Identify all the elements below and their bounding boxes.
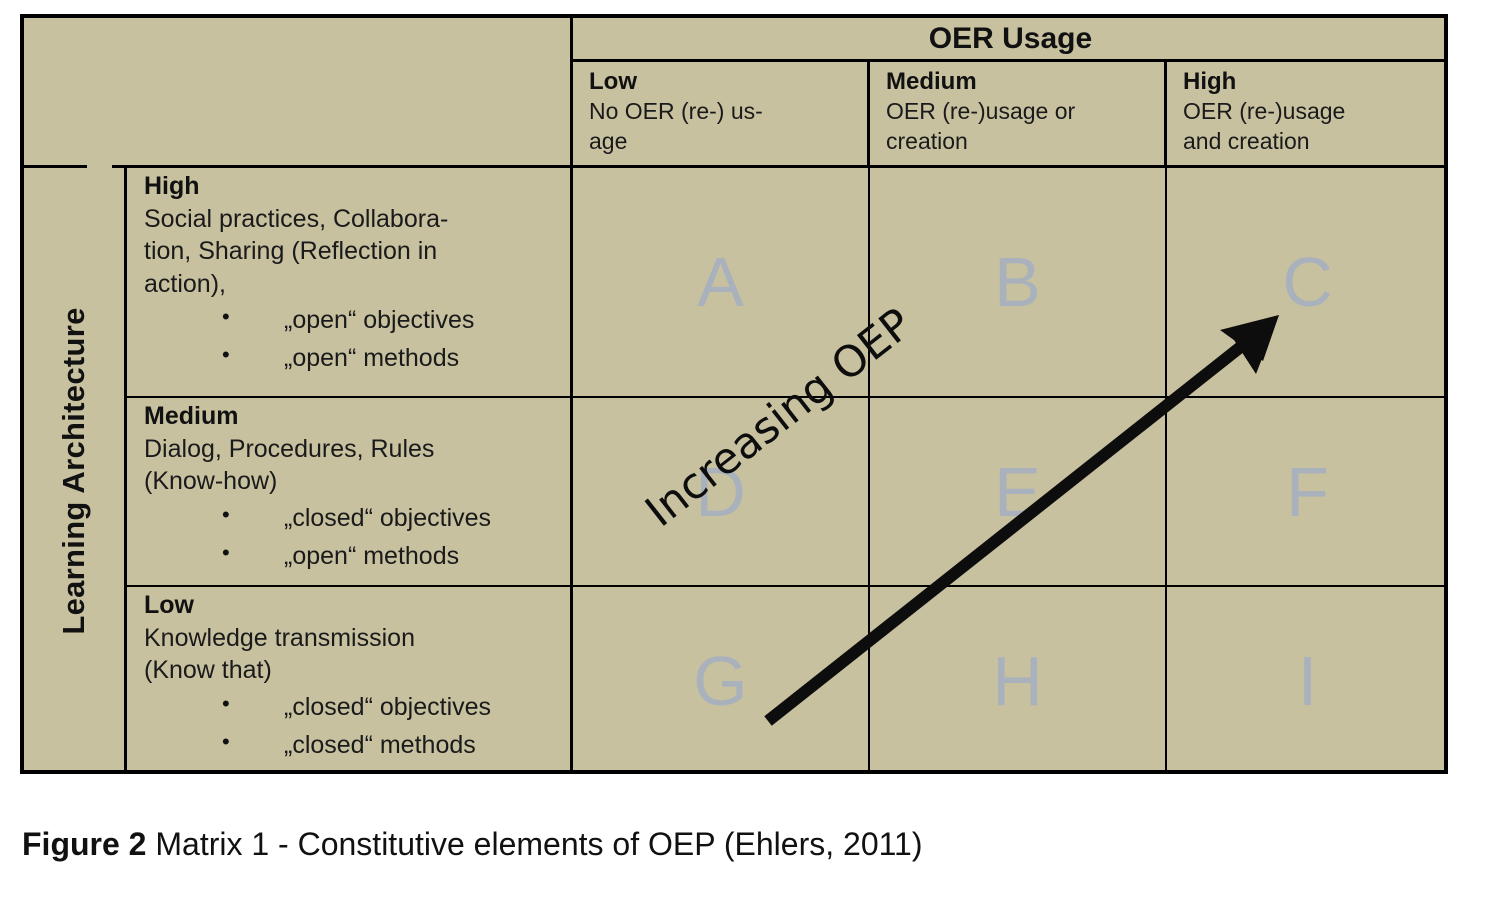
column-header-low-level: Low (589, 67, 867, 97)
matrix-cell-h: H (870, 587, 1167, 774)
column-header-high-level: High (1183, 67, 1448, 97)
row-header-medium: Medium Dialog, Procedures, Rules(Know-ho… (127, 398, 573, 587)
matrix-cell-e: E (870, 398, 1167, 587)
list-item: „open“ methods (144, 339, 570, 377)
column-header-medium: Medium OER (re-)usage orcreation (870, 62, 1167, 168)
matrix-cell-a: A (573, 168, 870, 398)
matrix-cell-c-label: C (1282, 247, 1333, 317)
matrix-cell-e-label: E (994, 457, 1041, 527)
matrix-cell-b-label: B (994, 247, 1041, 317)
row-header-medium-bullets: „closed“ objectives „open“ methods (144, 499, 570, 575)
matrix-cell-b: B (870, 168, 1167, 398)
column-header-medium-description: OER (re-)usage orcreation (886, 97, 1164, 156)
matrix-cell-h-label: H (992, 646, 1043, 716)
figure-container: Learning Architecture OER Usage Low No O… (0, 0, 1488, 904)
row-axis-title: Learning Architecture (56, 307, 92, 634)
column-header-high-description: OER (re-)usageand creation (1183, 97, 1448, 156)
row-header-high-level: High (144, 170, 570, 203)
matrix-cell-c: C (1167, 168, 1448, 398)
row-header-medium-level: Medium (144, 400, 570, 433)
matrix-cell-i: I (1167, 587, 1448, 774)
row-header-low-description: Knowledge transmission(Know that) (144, 622, 570, 687)
list-item: „closed“ objectives (144, 688, 570, 726)
row-header-low-level: Low (144, 589, 570, 622)
column-axis-header: OER Usage (573, 18, 1448, 62)
row-header-medium-description: Dialog, Procedures, Rules(Know-how) (144, 433, 570, 498)
matrix-cell-g-label: G (693, 646, 747, 716)
matrix-cell-f: F (1167, 398, 1448, 587)
matrix-cell-a-label: A (697, 247, 744, 317)
row-header-low-bullets: „closed“ objectives „closed“ methods (144, 688, 570, 764)
list-item: „closed“ methods (144, 726, 570, 764)
corner-blank-cell (24, 18, 573, 168)
column-header-low: Low No OER (re-) us-age (573, 62, 870, 168)
column-axis-title: OER Usage (929, 22, 1092, 56)
row-header-high-bullets: „open“ objectives „open“ methods (144, 301, 570, 377)
matrix-cell-g: G (573, 587, 870, 774)
list-item: „open“ objectives (144, 301, 570, 339)
matrix-cell-f-label: F (1286, 457, 1329, 527)
matrix-cell-i-label: I (1298, 646, 1317, 716)
row-header-high-description: Social practices, Collabora-tion, Sharin… (144, 203, 570, 301)
row-header-high: High Social practices, Collabora-tion, S… (127, 168, 573, 398)
matrix-cell-d: D (573, 398, 870, 587)
oep-matrix-table: Learning Architecture OER Usage Low No O… (20, 14, 1448, 774)
list-item: „closed“ objectives (144, 499, 570, 537)
figure-caption-text: Matrix 1 - Constitutive elements of OEP … (146, 826, 922, 862)
list-item: „open“ methods (144, 537, 570, 575)
matrix-cell-d-label: D (695, 457, 746, 527)
row-axis-header: Learning Architecture (24, 168, 127, 774)
figure-caption-label: Figure 2 (22, 826, 146, 862)
row-header-low: Low Knowledge transmission(Know that) „c… (127, 587, 573, 774)
corner-notch-decoration (87, 165, 112, 171)
figure-caption: Figure 2 Matrix 1 - Constitutive element… (22, 826, 922, 863)
column-header-high: High OER (re-)usageand creation (1167, 62, 1448, 168)
column-header-medium-level: Medium (886, 67, 1164, 97)
column-header-low-description: No OER (re-) us-age (589, 97, 867, 156)
